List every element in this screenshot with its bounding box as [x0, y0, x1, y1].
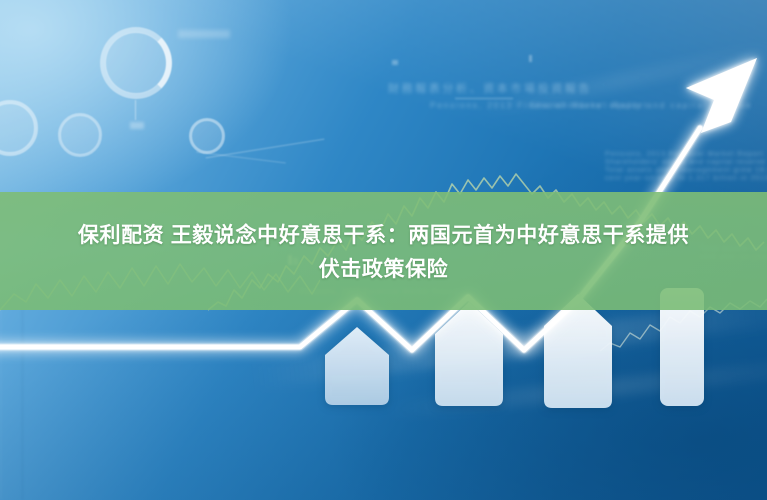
bar-column-2 — [433, 300, 505, 408]
bar-column-1 — [323, 325, 391, 407]
title-band: 保利配资 王毅说念中好意思干系：两国元首为中好意思干系提供 伏击政策保险 — [0, 192, 767, 310]
banner-image: 財務報表分析、資本市場投資報告 Pensions, 2013 Financial… — [0, 0, 767, 500]
headline-line-2: 伏击政策保险 — [319, 253, 449, 283]
headline-line-1: 保利配资 王毅说念中好意思干系：两国元首为中好意思干系提供 — [78, 219, 689, 249]
